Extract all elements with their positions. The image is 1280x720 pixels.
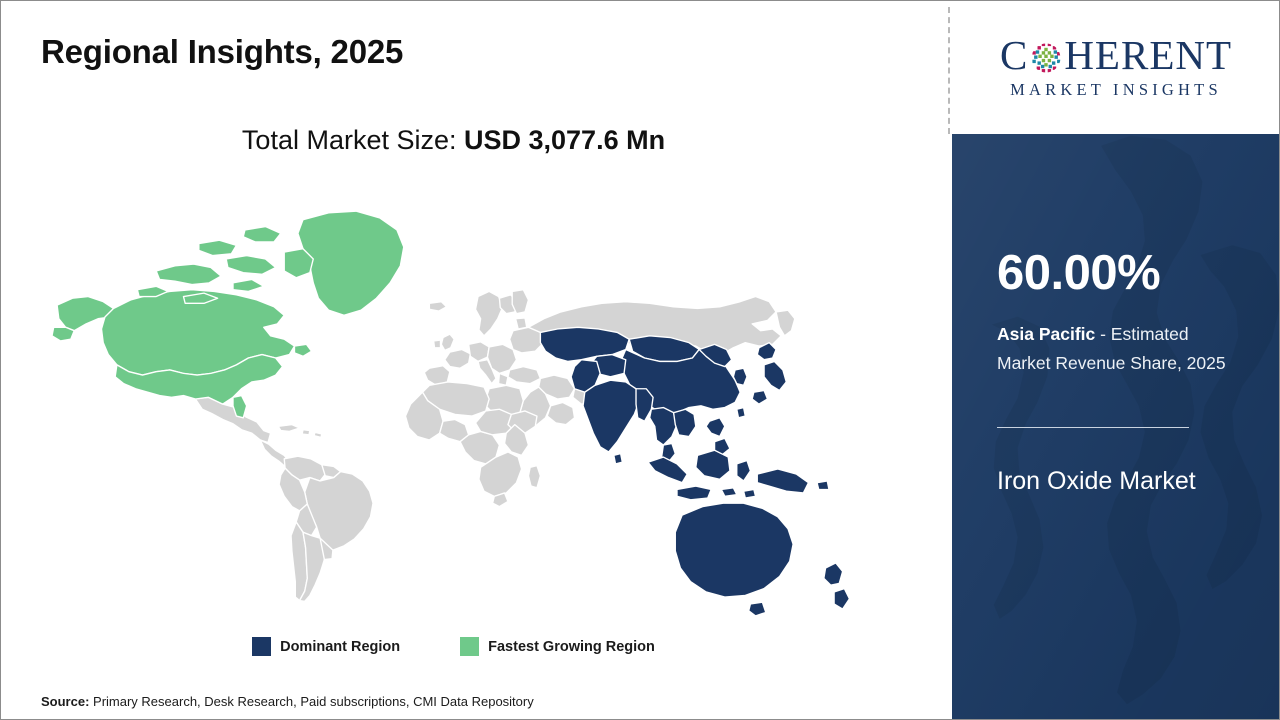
company-logo: C — [952, 2, 1280, 133]
world-map-svg — [25, 177, 885, 621]
share-description: Asia Pacific - Estimated Market Revenue … — [997, 320, 1237, 379]
legend-item-dominant: Dominant Region — [252, 637, 400, 656]
logo-wordmark: C — [1000, 35, 1232, 76]
legend-swatch-fastest-growing — [460, 637, 479, 656]
page-title: Regional Insights, 2025 — [41, 33, 403, 71]
logo-wordmark-rest: HERENT — [1064, 35, 1232, 76]
map-region-dominant — [540, 327, 849, 616]
map-legend: Dominant Region Fastest Growing Region — [1, 637, 906, 656]
legend-label-fastest-growing: Fastest Growing Region — [488, 639, 655, 655]
source-text: Primary Research, Desk Research, Paid su… — [89, 694, 533, 709]
source-note: Source: Primary Research, Desk Research,… — [41, 694, 534, 709]
infographic-canvas: Regional Insights, 2025 Total Market Siz… — [0, 0, 1280, 720]
market-size-value: USD 3,077.6 Mn — [464, 125, 665, 155]
vertical-dashed-divider — [948, 7, 950, 134]
legend-swatch-dominant — [252, 637, 271, 656]
source-label: Source: — [41, 694, 89, 709]
panel-horizontal-rule — [997, 427, 1189, 428]
side-stat-panel: 60.00% Asia Pacific - Estimated Market R… — [952, 134, 1280, 720]
market-size-label: Total Market Size: — [242, 125, 464, 155]
total-market-size: Total Market Size: USD 3,077.6 Mn — [1, 125, 906, 156]
logo-tagline: MARKET INSIGHTS — [1010, 80, 1222, 100]
region-name: Asia Pacific — [997, 324, 1095, 344]
share-percentage: 60.00% — [997, 249, 1160, 298]
market-name: Iron Oxide Market — [997, 464, 1237, 500]
logo-letter-c: C — [1000, 35, 1028, 76]
left-content-pane: Regional Insights, 2025 Total Market Siz… — [1, 1, 949, 720]
globe-dots-icon — [1029, 41, 1063, 75]
legend-label-dominant: Dominant Region — [280, 639, 400, 655]
map-region-fastest-growing — [52, 211, 404, 418]
legend-item-fastest-growing: Fastest Growing Region — [460, 637, 655, 656]
world-map — [25, 177, 885, 621]
panel-text-content: 60.00% Asia Pacific - Estimated Market R… — [997, 134, 1247, 720]
